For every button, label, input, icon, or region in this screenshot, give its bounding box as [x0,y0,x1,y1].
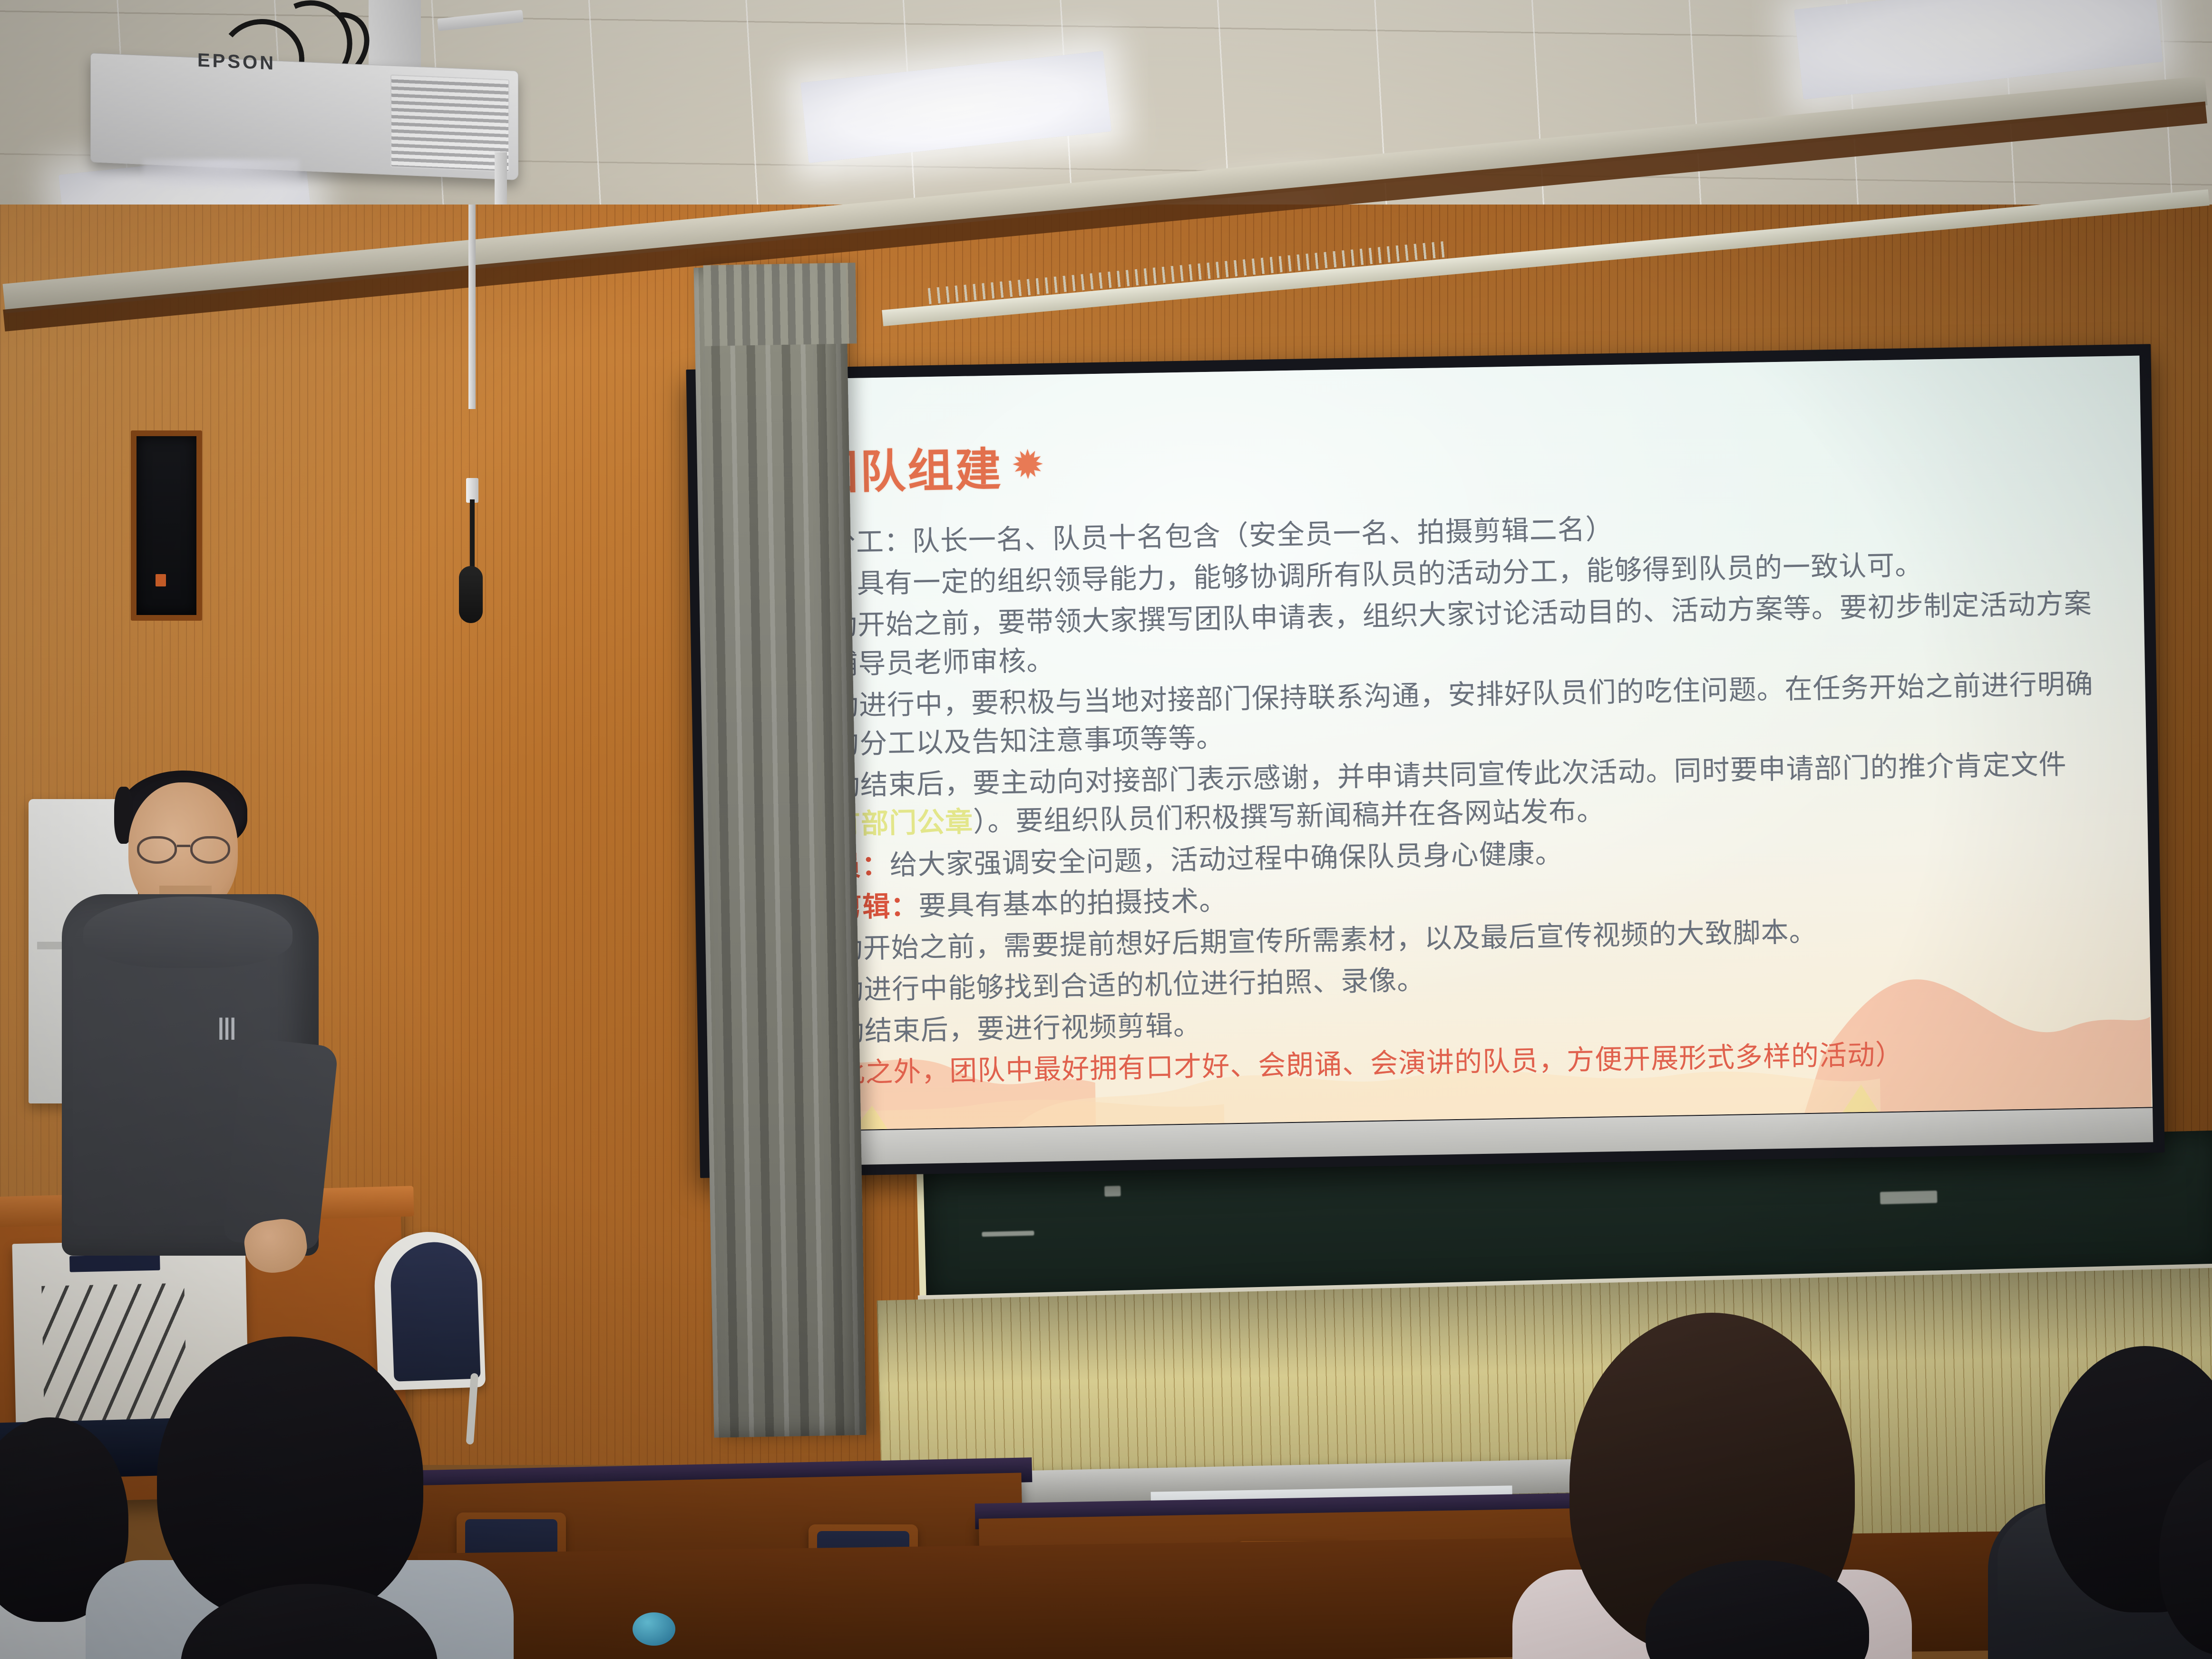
slide-content: ✹ 团队组建 ✹ 人员分工：队长一名、队员十名包含（安全员一名、拍摄剪辑二名）队… [770,413,2117,1031]
slide-text-segment: 人员分工：队长一名、队员十名包含（安全员一名、拍摄剪辑二名） [771,514,1614,559]
chalk-mark [1104,1186,1121,1197]
desk-object [633,1612,675,1646]
slide-text-segment: 给大家强调安全问题，活动过程中确保队员身心健康。 [889,838,1563,880]
projector-mount-arm [437,10,524,31]
slide-text-segment: 在活动进行中能够找到合适的机位进行拍照、录像。 [780,965,1425,1007]
star-icon: ✹ [1013,447,1044,483]
microphone-icon [459,566,483,623]
glasses-icon [137,836,230,864]
slide-text-segment: ）。要组织队员们积极撰写新闻稿并在各网站发布。 [973,796,1605,838]
hoodie-chest-logo: Ⅲ [216,1015,250,1049]
ceiling-projector: EPSON [76,0,552,205]
wall-speaker [131,430,202,621]
chair-cushion [390,1241,481,1382]
cabinet-vent-slots [41,1283,187,1434]
slide-text-segment: 在活动进行中，要积极与当地对接部门保持联系沟通，安排好队员们的吃住问题。在任务开… [774,668,2094,761]
chalk-mark [982,1231,1034,1237]
projector-vent-grille [390,75,509,172]
projector-brand-label: EPSON [197,50,276,75]
slide-title-row: ✹ 团队组建 ✹ [770,413,2108,503]
audience-member-head [157,1337,423,1622]
glasses-left-lens [137,836,177,864]
screen-surface[interactable]: ✹ 团队组建 ✹ 人员分工：队长一名、队员十名包含（安全员一名、拍摄剪辑二名）队… [698,356,2153,1132]
chalk-mark [1880,1191,1938,1204]
slide-body: 人员分工：队长一名、队员十名包含（安全员一名、拍摄剪辑二名）队长：具有一定的组织… [771,501,2118,1094]
microphone-rod [468,205,476,409]
cabinet-label-plate [69,1254,160,1272]
slide-text-segment: 在活动开始之前，要带领大家撰写团队申请表，组织大家讨论活动目的、活动方案等。要初… [773,588,2092,681]
speaker-power-led [156,574,166,586]
curtain-pleat-header [703,263,857,346]
projection-screen[interactable]: ✹ 团队组建 ✹ 人员分工：队长一名、队员十名包含（安全员一名、拍摄剪辑二名）队… [684,227,2165,1180]
window-curtain[interactable] [694,265,867,1437]
glasses-right-lens [190,836,230,864]
presenter-hood [83,897,292,968]
chair-back-shell [373,1230,486,1391]
projector-lens-glow [143,159,300,187]
glasses-bridge [177,845,190,847]
screen-frame: ✹ 团队组建 ✹ 人员分工：队长一名、队员十名包含（安全员一名、拍摄剪辑二名）队… [686,344,2164,1178]
slide-text-segment: 要具有基本的拍摄技术。 [918,885,1228,921]
classroom-scene: EPSON [0,0,2212,1659]
